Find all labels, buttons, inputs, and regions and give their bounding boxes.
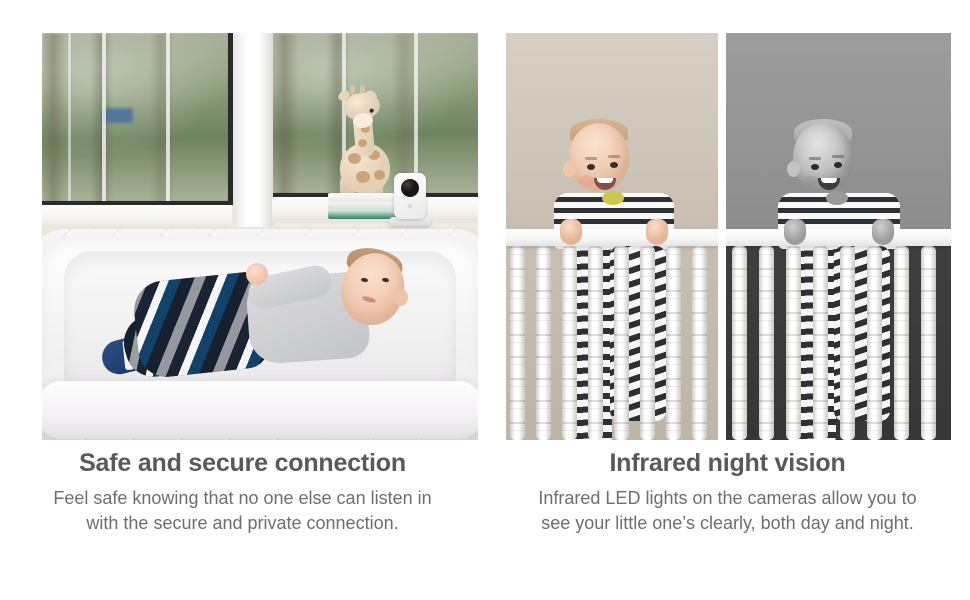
split-divider bbox=[718, 33, 726, 440]
crib-spindles-day bbox=[506, 246, 718, 440]
baby-collar-day bbox=[602, 191, 624, 205]
baby-eye-left-ir bbox=[811, 164, 819, 170]
feature-panel-safe-secure: Safe and secure connection Feel safe kno… bbox=[0, 0, 485, 600]
baby-cheek-ir bbox=[803, 176, 819, 186]
feature-board: Safe and secure connection Feel safe kno… bbox=[0, 0, 970, 600]
feature-panel-night-vision: Infrared night vision Infrared LED light… bbox=[485, 0, 970, 600]
day-night-split bbox=[506, 33, 951, 440]
standing-baby-ir bbox=[726, 33, 951, 246]
baby-brow-right-day bbox=[608, 155, 620, 158]
crib-rail-day bbox=[506, 229, 718, 246]
baby-hand-right-ir bbox=[872, 219, 894, 245]
window-muntin-d bbox=[414, 33, 418, 194]
window-muntin-b bbox=[166, 33, 170, 201]
baby-eye-right-day bbox=[610, 162, 618, 168]
baby-eye-right-ir bbox=[834, 162, 842, 168]
baby-ear-day bbox=[563, 161, 576, 177]
monitor-led-indicator bbox=[408, 204, 412, 208]
plush-giraffe bbox=[334, 85, 396, 195]
headline-night-vision: Infrared night vision bbox=[485, 448, 970, 478]
baby-brow-right-ir bbox=[832, 155, 844, 158]
window-muntin-a bbox=[102, 33, 106, 201]
stacked-books bbox=[328, 193, 402, 219]
baby-monitor-camera bbox=[394, 173, 426, 231]
body-safe-secure: Feel safe knowing that no one else can l… bbox=[53, 486, 433, 536]
baby-ear-ir bbox=[787, 161, 800, 177]
baby-hand-left-day bbox=[560, 219, 582, 245]
monitor-body bbox=[394, 173, 426, 219]
baby-hand-right-day bbox=[646, 219, 668, 245]
baby-hand-left-ir bbox=[784, 219, 806, 245]
infrared-view bbox=[726, 33, 951, 440]
baby-eye-left-day bbox=[587, 164, 595, 170]
window-stile-highlight bbox=[247, 33, 254, 229]
bassinet-front-panel bbox=[42, 381, 478, 439]
daylight-view bbox=[506, 33, 718, 440]
nursery-scene bbox=[42, 33, 478, 440]
baby-cheek-day bbox=[579, 176, 595, 186]
body-night-vision: Infrared LED lights on the cameras allow… bbox=[528, 486, 928, 536]
crib-rail-ir bbox=[726, 229, 951, 246]
giraffe-eye bbox=[369, 108, 374, 113]
baby-brow-left-ir bbox=[809, 157, 821, 160]
baby-collar-ir bbox=[826, 191, 848, 205]
nursery-bassinet-photo bbox=[42, 33, 478, 440]
camera-lens-icon bbox=[401, 179, 419, 197]
headline-safe-secure: Safe and secure connection bbox=[0, 448, 485, 478]
standing-baby-day bbox=[506, 33, 718, 246]
crib-spindles-ir bbox=[726, 246, 951, 440]
book-top bbox=[328, 193, 402, 202]
caption-safe-secure: Safe and secure connection Feel safe kno… bbox=[0, 448, 485, 536]
window-muntin-e bbox=[68, 33, 71, 201]
bassinet-front-overlay bbox=[42, 229, 478, 440]
caption-night-vision: Infrared night vision Infrared LED light… bbox=[485, 448, 970, 536]
baby-brow-left-day bbox=[585, 157, 597, 160]
night-vision-comparison-photo bbox=[506, 33, 951, 440]
book-middle bbox=[328, 202, 402, 210]
